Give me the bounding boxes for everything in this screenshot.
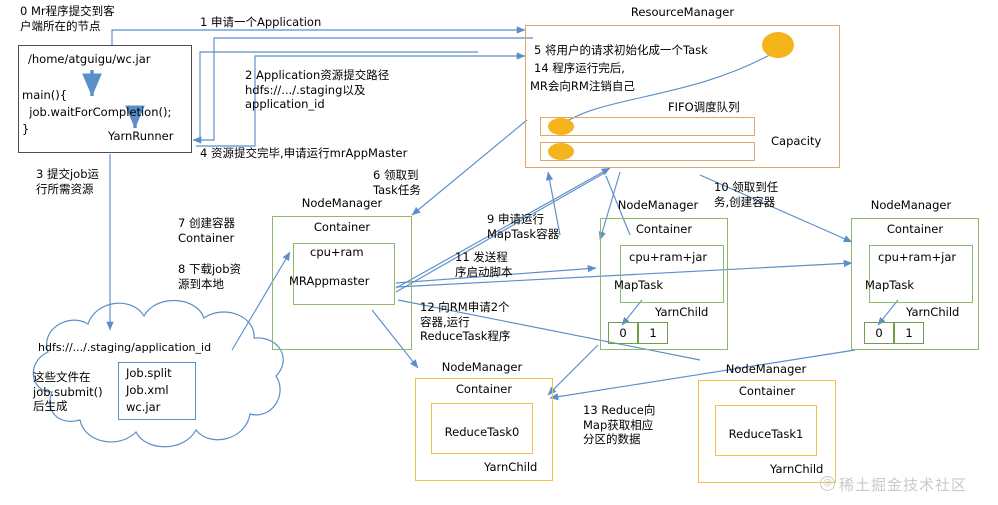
nodemanager-2-partition-0-label: 0 (608, 326, 638, 340)
hdfs-file-job-xml: Job.xml (126, 383, 169, 398)
nodemanager-2-yarnchild: YarnChild (655, 305, 708, 320)
nodemanager-3-resources: cpu+ram+jar (878, 250, 956, 265)
nodemanager-3-title: NodeManager (845, 198, 977, 212)
hdfs-file-job-split: Job.split (126, 366, 172, 381)
nodemanager-3-partition-0-label: 0 (864, 326, 894, 340)
diagram-canvas: 0 Mr程序提交到客 户端所在的节点 /home/atguigu/wc.jar … (0, 0, 998, 505)
nodemanager-4-title: NodeManager (416, 360, 548, 374)
nodemanager-2-partition-1-label: 1 (638, 326, 668, 340)
nodemanager-3-task: MapTask (865, 278, 914, 293)
hdfs-cloud-note: 这些文件在 job.submit() 后生成 (33, 370, 103, 414)
nodemanager-1-container-label: Container (272, 220, 412, 234)
nodemanager-1-resources: cpu+ram (310, 245, 364, 260)
hdfs-staging-path: hdfs://.../.staging/application_id (38, 341, 211, 356)
nodemanager-2-container-label: Container (600, 222, 728, 236)
nodemanager-5-task: ReduceTask1 (715, 427, 817, 441)
nodemanager-4-yarnchild: YarnChild (484, 460, 537, 475)
nodemanager-5-title: NodeManager (700, 362, 832, 376)
nodemanager-1-title: NodeManager (272, 196, 412, 210)
nodemanager-2-task: MapTask (614, 278, 663, 293)
nodemanager-3-container-label: Container (851, 222, 979, 236)
nodemanager-2-title: NodeManager (592, 198, 724, 212)
nodemanager-5-yarnchild: YarnChild (770, 462, 823, 477)
nodemanager-1-task: MRAppmaster (289, 274, 369, 289)
nodemanager-3-yarnchild: YarnChild (906, 305, 959, 320)
nodemanager-4-task: ReduceTask0 (431, 425, 533, 439)
watermark-text: 稀土掘金技术社区 (839, 474, 967, 495)
nodemanager-3-partition-1-label: 1 (894, 326, 924, 340)
nodemanager-2-resources: cpu+ram+jar (629, 250, 707, 265)
hdfs-file-wc-jar: wc.jar (126, 400, 160, 415)
watermark-mark-icon: @ (820, 476, 835, 491)
nodemanager-4-container-label: Container (415, 382, 553, 396)
nodemanager-5-container-label: Container (698, 384, 836, 398)
